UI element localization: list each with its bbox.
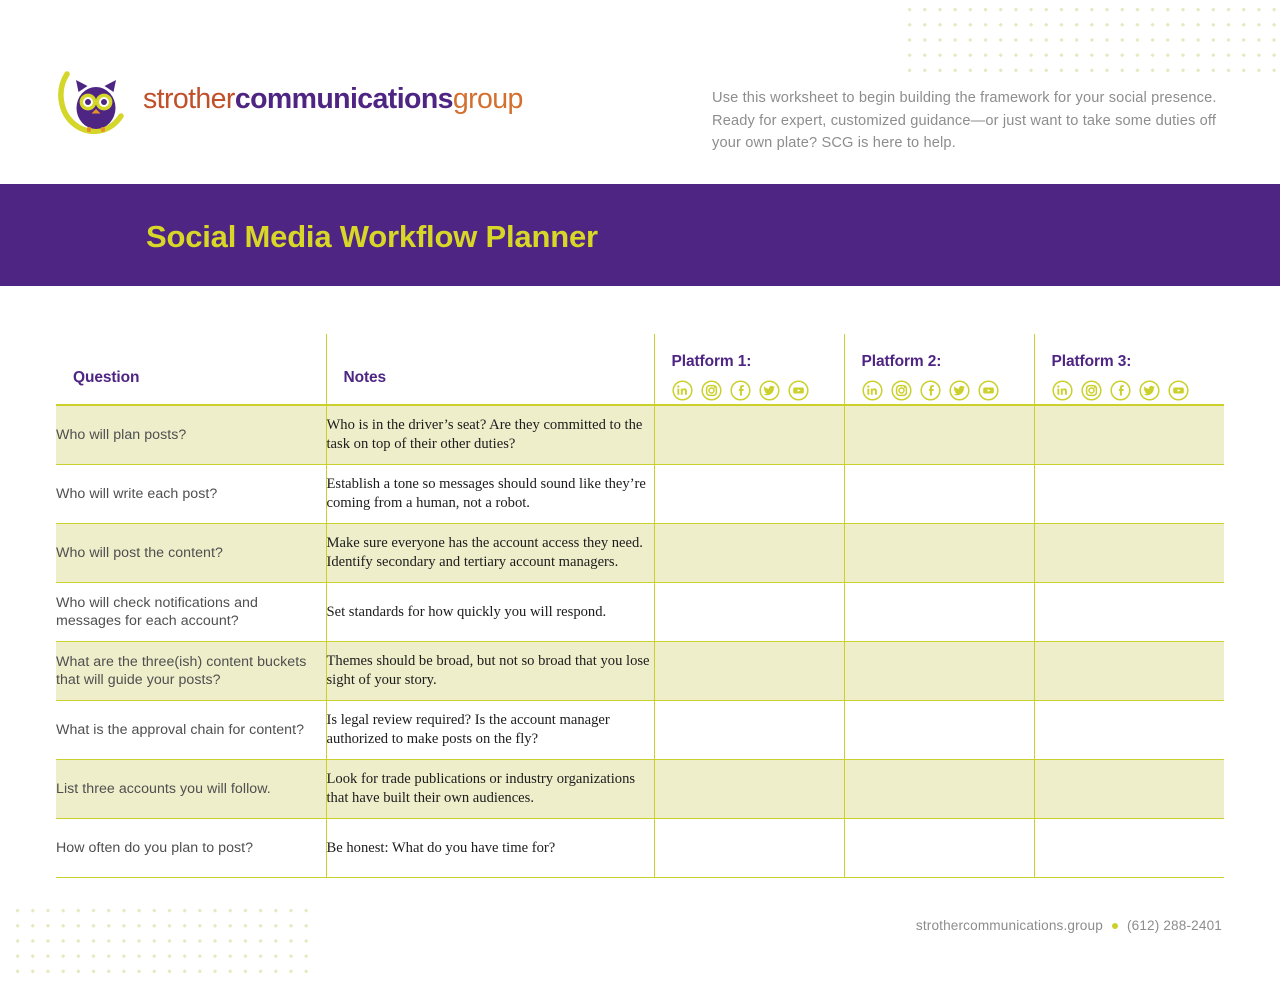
table-row: How often do you plan to post?Be honest:… [56,819,1224,878]
table-row: Who will plan posts?Who is in the driver… [56,405,1224,465]
platform-1-answer-cell[interactable] [654,524,844,583]
table-header: QuestionNotesPlatform 1:Platform 2:Platf… [56,334,1224,405]
platform-1-answer-cell[interactable] [654,583,844,642]
notes-text: Be honest: What do you have time for? [327,839,654,858]
owl-logo-icon [55,58,137,140]
youtube-icon[interactable] [978,380,999,401]
question-cell: Who will plan posts? [56,405,326,465]
platform-2-answer-cell[interactable] [844,760,1034,819]
youtube-icon[interactable] [1168,380,1189,401]
notes-text: Who is in the driver’s seat? Are they co… [327,416,654,453]
facebook-icon[interactable] [1110,380,1131,401]
table-row: Who will post the content?Make sure ever… [56,524,1224,583]
social-icon-row [862,380,1034,401]
question-text: How often do you plan to post? [56,839,326,858]
platform-2-answer-cell[interactable] [844,524,1034,583]
notes-text: Look for trade publications or industry … [327,770,654,807]
notes-text: Set standards for how quickly you will r… [327,603,654,622]
platform-3-answer-cell[interactable] [1034,760,1224,819]
linkedin-icon[interactable] [1052,380,1073,401]
page-title: Social Media Workflow Planner [146,221,598,252]
platform-2-answer-cell[interactable] [844,583,1034,642]
question-cell: What are the three(ish) content buckets … [56,642,326,701]
platform-3-answer-cell[interactable] [1034,819,1224,878]
footer-website[interactable]: strothercommunications.group [916,918,1103,933]
twitter-icon[interactable] [759,380,780,401]
question-text: Who will post the content? [56,544,326,563]
question-text: What is the approval chain for content? [56,721,326,740]
notes-cell: Who is in the driver’s seat? Are they co… [326,405,654,465]
header-intro-text: Use this worksheet to begin building the… [712,87,1224,155]
column-header-platform-2: Platform 2: [844,334,1034,405]
notes-text: Themes should be broad, but not so broad… [327,652,654,689]
question-cell: List three accounts you will follow. [56,760,326,819]
brand-wordmark: strothercommunicationsgroup [143,85,523,114]
question-cell: What is the approval chain for content? [56,701,326,760]
footer-bullet-icon [1112,923,1118,929]
linkedin-icon[interactable] [672,380,693,401]
instagram-icon[interactable] [701,380,722,401]
table-header-row: QuestionNotesPlatform 1:Platform 2:Platf… [56,334,1224,405]
table-row: What is the approval chain for content?I… [56,701,1224,760]
social-icon-row [1052,380,1225,401]
table-row: Who will write each post?Establish a ton… [56,465,1224,524]
notes-cell: Set standards for how quickly you will r… [326,583,654,642]
notes-cell: Is legal review required? Is the account… [326,701,654,760]
notes-cell: Be honest: What do you have time for? [326,819,654,878]
column-header-platform-1: Platform 1: [654,334,844,405]
notes-text: Establish a tone so messages should soun… [327,475,654,512]
question-text: Who will write each post? [56,485,326,504]
notes-cell: Establish a tone so messages should soun… [326,465,654,524]
question-cell: Who will check notifications and message… [56,583,326,642]
notes-text: Make sure everyone has the account acces… [327,534,654,571]
notes-cell: Themes should be broad, but not so broad… [326,642,654,701]
wordmark-group: group [453,83,523,115]
question-cell: Who will write each post? [56,465,326,524]
question-cell: How often do you plan to post? [56,819,326,878]
question-text: Who will check notifications and message… [56,594,326,631]
wordmark-strother: strother [143,83,235,115]
question-text: List three accounts you will follow. [56,780,326,799]
worksheet-table: QuestionNotesPlatform 1:Platform 2:Platf… [56,334,1224,878]
question-cell: Who will post the content? [56,524,326,583]
notes-cell: Make sure everyone has the account acces… [326,524,654,583]
platform-2-answer-cell[interactable] [844,405,1034,465]
platform-2-answer-cell[interactable] [844,701,1034,760]
table-row: What are the three(ish) content buckets … [56,642,1224,701]
column-header-label: Platform 3: [1052,354,1225,370]
platform-1-answer-cell[interactable] [654,701,844,760]
facebook-icon[interactable] [730,380,751,401]
platform-1-answer-cell[interactable] [654,465,844,524]
page-header: strothercommunicationsgroup Use this wor… [0,0,1280,176]
column-header-label: Question [73,370,326,386]
column-header-label: Platform 1: [672,354,844,370]
social-icon-row [672,380,844,401]
platform-2-answer-cell[interactable] [844,465,1034,524]
linkedin-icon[interactable] [862,380,883,401]
table-body: Who will plan posts?Who is in the driver… [56,405,1224,878]
platform-1-answer-cell[interactable] [654,819,844,878]
column-header-question: Question [56,334,326,405]
table-row: List three accounts you will follow.Look… [56,760,1224,819]
platform-3-answer-cell[interactable] [1034,583,1224,642]
wordmark-communications: communications [235,83,453,115]
question-text: Who will plan posts? [56,426,326,445]
platform-1-answer-cell[interactable] [654,760,844,819]
footer-phone[interactable]: (612) 288-2401 [1127,918,1222,933]
platform-1-answer-cell[interactable] [654,405,844,465]
twitter-icon[interactable] [949,380,970,401]
column-header-label: Platform 2: [862,354,1034,370]
notes-cell: Look for trade publications or industry … [326,760,654,819]
decorative-dot-grid-bottom-left [8,901,308,983]
question-text: What are the three(ish) content buckets … [56,653,326,690]
twitter-icon[interactable] [1139,380,1160,401]
platform-1-answer-cell[interactable] [654,642,844,701]
footer: strothercommunications.group (612) 288-2… [916,918,1222,933]
instagram-icon[interactable] [891,380,912,401]
platform-2-answer-cell[interactable] [844,819,1034,878]
column-header-label: Notes [344,370,654,386]
platform-3-answer-cell[interactable] [1034,465,1224,524]
platform-3-answer-cell[interactable] [1034,524,1224,583]
platform-2-answer-cell[interactable] [844,642,1034,701]
brand-logo: strothercommunicationsgroup [55,58,523,140]
platform-3-answer-cell[interactable] [1034,701,1224,760]
table-row: Who will check notifications and message… [56,583,1224,642]
platform-3-answer-cell[interactable] [1034,405,1224,465]
youtube-icon[interactable] [788,380,809,401]
column-header-platform-3: Platform 3: [1034,334,1224,405]
facebook-icon[interactable] [920,380,941,401]
notes-text: Is legal review required? Is the account… [327,711,654,748]
column-header-notes: Notes [326,334,654,405]
instagram-icon[interactable] [1081,380,1102,401]
platform-3-answer-cell[interactable] [1034,642,1224,701]
